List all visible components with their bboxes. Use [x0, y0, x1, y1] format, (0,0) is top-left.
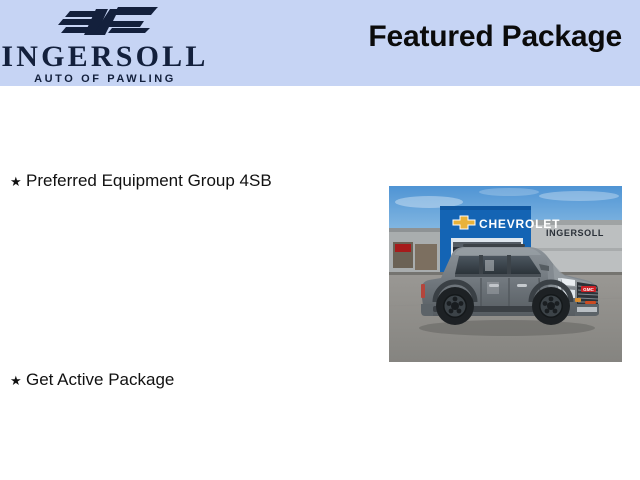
star-bullet-icon: ★ — [10, 374, 26, 387]
dealer-wordmark: INGERSOLL — [0, 42, 210, 72]
feature-label: Preferred Equipment Group 4SB — [26, 172, 272, 189]
star-bullet-icon: ★ — [10, 175, 26, 188]
svg-text:CHEVROLET: CHEVROLET — [479, 217, 560, 231]
list-item: ★ Preferred Equipment Group 4SB — [10, 172, 272, 189]
feature-list: ★ Preferred Equipment Group 4SB ★ Get Ac… — [0, 86, 380, 480]
ingersoll-winged-emblem-icon — [52, 6, 162, 42]
page-title: Featured Package — [368, 20, 622, 54]
svg-text:GMC: GMC — [583, 287, 594, 292]
vehicle-photo: INGERSOLL CHEVROLET — [389, 186, 622, 362]
dealer-tagline: AUTO OF PAWLING — [0, 74, 210, 85]
list-item: ★ Get Active Package — [10, 371, 174, 388]
dealer-logo: INGERSOLL AUTO OF PAWLING — [0, 4, 210, 84]
page-header: INGERSOLL AUTO OF PAWLING Featured Packa… — [0, 0, 640, 86]
feature-label: Get Active Package — [26, 371, 174, 388]
